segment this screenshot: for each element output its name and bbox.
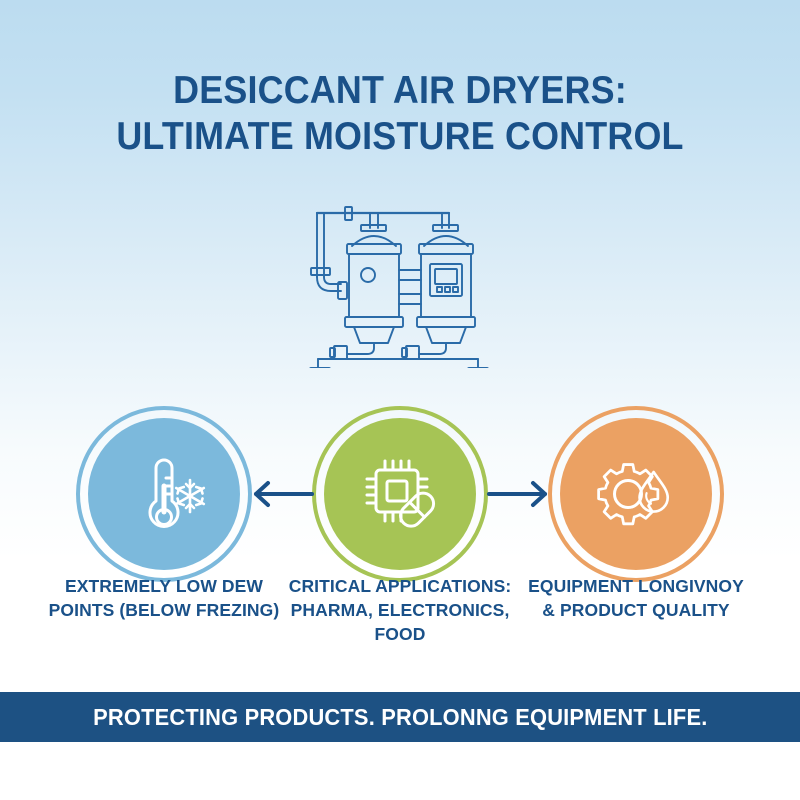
benefit-circle-critical-applications[interactable] bbox=[312, 406, 488, 582]
thermometer-snowflake-icon bbox=[118, 448, 210, 540]
caption-critical-applications: CRITICAL APPLICATIONS: PHARMA, ELECTRONI… bbox=[275, 574, 525, 646]
caption-equipment-longevity: EQUIPMENT LONGIVNOY & PRODUCT QUALITY bbox=[511, 574, 761, 622]
caption-line-2: POINTS (BELOW FREZING) bbox=[49, 600, 280, 620]
circle-fill-orange bbox=[560, 418, 712, 570]
caption-low-dew-point: EXTREMELY LOW DEW POINTS (BELOW FREZING) bbox=[39, 574, 289, 622]
arrow-left-icon bbox=[250, 478, 314, 510]
bottom-banner: PROTECTING PRODUCTS. PROLONNG EQUIPMENT … bbox=[0, 692, 800, 742]
caption-line-1: EQUIPMENT LONGIVNOY bbox=[528, 576, 744, 596]
title-line-1: DESICCANT AIR DRYERS: bbox=[32, 68, 768, 114]
caption-line-2: PHARMA, ELECTRONICS, bbox=[291, 600, 510, 620]
arrow-right-icon bbox=[487, 478, 551, 510]
banner-text: PROTECTING PRODUCTS. PROLONNG EQUIPMENT … bbox=[93, 704, 707, 731]
caption-line-3: FOOD bbox=[375, 624, 426, 644]
circle-fill-green bbox=[324, 418, 476, 570]
title-line-2: ULTIMATE MOISTURE CONTROL bbox=[32, 114, 768, 160]
circle-fill-blue bbox=[88, 418, 240, 570]
infographic-canvas: DESICCANT AIR DRYERS: ULTIMATE MOISTURE … bbox=[0, 0, 800, 800]
page-title: DESICCANT AIR DRYERS: ULTIMATE MOISTURE … bbox=[0, 68, 800, 160]
arrow-left bbox=[250, 478, 314, 510]
microchip-pill-icon bbox=[354, 448, 446, 540]
desiccant-dryer-illustration bbox=[292, 196, 508, 368]
benefit-circle-equipment-longevity[interactable] bbox=[548, 406, 724, 582]
benefit-circle-low-dew-point[interactable] bbox=[76, 406, 252, 582]
dryer-svg bbox=[292, 196, 508, 368]
caption-line-2: & PRODUCT QUALITY bbox=[542, 600, 729, 620]
caption-line-1: EXTREMELY LOW DEW bbox=[65, 576, 263, 596]
benefit-captions: EXTREMELY LOW DEW POINTS (BELOW FREZING)… bbox=[0, 574, 800, 664]
gear-water-drop-icon bbox=[590, 448, 682, 540]
benefit-circles-row bbox=[0, 406, 800, 586]
caption-line-1: CRITICAL APPLICATIONS: bbox=[289, 576, 512, 596]
arrow-right bbox=[487, 478, 551, 510]
